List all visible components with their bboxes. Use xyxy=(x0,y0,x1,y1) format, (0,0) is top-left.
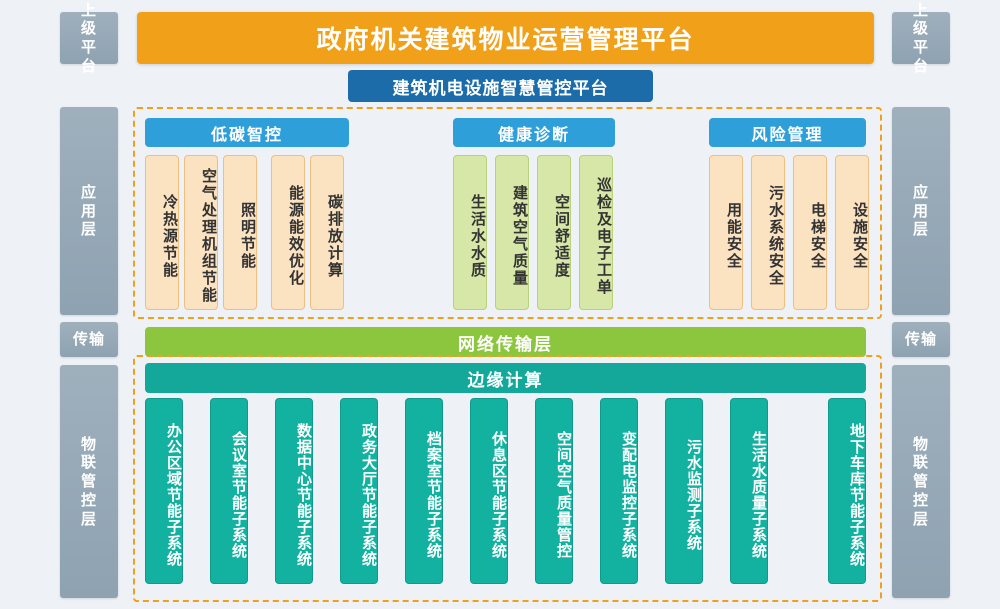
app-card-facility-safety-label: 设施安全 xyxy=(851,202,868,270)
diagram-root: 上级平台 应用层 传输 物联管控层 上级平台 应用层 传输 物联管控层 政府机关… xyxy=(0,0,1000,609)
platform-main-title: 政府机关建筑物业运营管理平台 xyxy=(137,12,874,64)
rail-left-upper-platform-label: 上级平台 xyxy=(77,1,101,76)
iot-card-meeting-room-energy-saving[interactable]: 会议室节能子系统 xyxy=(210,398,248,584)
rail-right-application-layer-label: 应用层 xyxy=(909,183,933,239)
iot-card-archive-room-energy-saving-label: 档案室节能子系统 xyxy=(425,431,442,559)
iot-card-archive-room-energy-saving[interactable]: 档案室节能子系统 xyxy=(405,398,443,584)
iot-card-data-center-energy-saving[interactable]: 数据中心节能子系统 xyxy=(275,398,313,584)
rail-right-upper-platform-label: 上级平台 xyxy=(909,1,933,76)
app-card-cold-heat-source-label: 冷热源节能 xyxy=(161,194,178,279)
group-header-low-carbon-label: 低碳智控 xyxy=(211,121,283,145)
iot-card-substation-monitoring-label: 变配电监控子系统 xyxy=(620,431,637,559)
rail-right-upper-platform: 上级平台 xyxy=(892,12,950,64)
app-card-carbon-emission-calculation[interactable]: 碳排放计算 xyxy=(310,155,344,310)
rail-right-transport-label: 传输 xyxy=(905,330,937,349)
iot-card-meeting-room-energy-saving-label: 会议室节能子系统 xyxy=(230,431,247,559)
app-card-energy-use-safety[interactable]: 用能安全 xyxy=(709,155,743,310)
iot-card-space-air-quality-control[interactable]: 空间空气质量管控 xyxy=(535,398,573,584)
platform-sub-title: 建筑机电设施智慧管控平台 xyxy=(348,70,653,102)
rail-right-transport: 传输 xyxy=(892,322,950,357)
iot-card-data-center-energy-saving-label: 数据中心节能子系统 xyxy=(295,423,312,567)
platform-sub-title-label: 建筑机电设施智慧管控平台 xyxy=(393,74,609,99)
rail-left-transport: 传输 xyxy=(60,322,118,357)
app-card-energy-efficiency-optimization-label: 能源能效优化 xyxy=(287,185,304,287)
app-card-space-comfort[interactable]: 空间舒适度 xyxy=(537,155,571,310)
iot-card-rest-area-energy-saving-label: 休息区节能子系统 xyxy=(490,431,507,559)
platform-main-title-label: 政府机关建筑物业运营管理平台 xyxy=(316,20,694,56)
app-card-cold-heat-source[interactable]: 冷热源节能 xyxy=(145,155,179,310)
group-header-health-diagnosis: 健康诊断 xyxy=(453,118,615,147)
rail-right-iot-layer: 物联管控层 xyxy=(892,365,950,598)
app-card-elevator-safety-label: 电梯安全 xyxy=(809,202,826,270)
app-card-building-air-quality[interactable]: 建筑空气质量 xyxy=(495,155,529,310)
iot-card-underground-garage-energy-saving[interactable]: 地下车库节能子系统 xyxy=(828,398,866,584)
group-header-risk-management: 风险管理 xyxy=(709,118,866,147)
app-card-inspection-e-work-order-label: 巡检及电子工单 xyxy=(595,177,612,296)
iot-card-rest-area-energy-saving[interactable]: 休息区节能子系统 xyxy=(470,398,508,584)
group-header-risk-management-label: 风险管理 xyxy=(751,121,823,145)
app-card-energy-use-safety-label: 用能安全 xyxy=(725,202,742,270)
app-card-sewage-system-safety[interactable]: 污水系统安全 xyxy=(751,155,785,310)
app-card-lighting-energy-saving[interactable]: 照明节能 xyxy=(223,155,257,310)
rail-left-application-layer: 应用层 xyxy=(60,107,118,315)
app-card-carbon-emission-calculation-label: 碳排放计算 xyxy=(326,194,343,279)
app-card-lighting-energy-saving-label: 照明节能 xyxy=(239,202,256,270)
app-card-building-air-quality-label: 建筑空气质量 xyxy=(511,185,528,287)
iot-card-sewage-monitoring-label: 污水监测子系统 xyxy=(685,439,702,551)
app-card-energy-efficiency-optimization[interactable]: 能源能效优化 xyxy=(271,155,305,310)
app-card-space-comfort-label: 空间舒适度 xyxy=(553,194,570,279)
app-card-facility-safety[interactable]: 设施安全 xyxy=(835,155,869,310)
rail-left-upper-platform: 上级平台 xyxy=(60,12,118,64)
group-header-low-carbon: 低碳智控 xyxy=(145,118,349,147)
iot-card-sewage-monitoring[interactable]: 污水监测子系统 xyxy=(665,398,703,584)
app-card-sewage-system-safety-label: 污水系统安全 xyxy=(767,185,784,287)
app-card-domestic-water-quality-label: 生活水水质 xyxy=(469,194,486,279)
app-card-elevator-safety[interactable]: 电梯安全 xyxy=(793,155,827,310)
iot-card-office-area-energy-saving[interactable]: 办公区域节能子系统 xyxy=(145,398,183,584)
rail-right-application-layer: 应用层 xyxy=(892,107,950,315)
rail-left-transport-label: 传输 xyxy=(73,330,105,349)
app-card-ahu-energy-saving-label: 空气处理机组节能 xyxy=(200,168,217,304)
iot-card-underground-garage-energy-saving-label: 地下车库节能子系统 xyxy=(848,423,865,567)
rail-left-iot-layer-label: 物联管控层 xyxy=(77,435,101,529)
rail-left-application-layer-label: 应用层 xyxy=(77,183,101,239)
rail-left-iot-layer: 物联管控层 xyxy=(60,365,118,598)
app-card-inspection-e-work-order[interactable]: 巡检及电子工单 xyxy=(579,155,613,310)
app-card-ahu-energy-saving[interactable]: 空气处理机组节能 xyxy=(184,155,218,310)
iot-card-space-air-quality-control-label: 空间空气质量管控 xyxy=(555,431,572,559)
iot-card-office-area-energy-saving-label: 办公区域节能子系统 xyxy=(165,423,182,567)
iot-card-government-hall-energy-saving-label: 政务大厅节能子系统 xyxy=(360,423,377,567)
iot-card-substation-monitoring[interactable]: 变配电监控子系统 xyxy=(600,398,638,584)
network-transport-bar: 网络传输层 xyxy=(145,327,866,357)
rail-right-iot-layer-label: 物联管控层 xyxy=(909,435,933,529)
iot-card-government-hall-energy-saving[interactable]: 政务大厅节能子系统 xyxy=(340,398,378,584)
iot-card-domestic-water-quality-label: 生活水质量子系统 xyxy=(750,431,767,559)
group-header-health-diagnosis-label: 健康诊断 xyxy=(498,121,570,145)
app-card-domestic-water-quality[interactable]: 生活水水质 xyxy=(453,155,487,310)
iot-card-domestic-water-quality[interactable]: 生活水质量子系统 xyxy=(730,398,768,584)
network-transport-bar-label: 网络传输层 xyxy=(458,330,553,355)
